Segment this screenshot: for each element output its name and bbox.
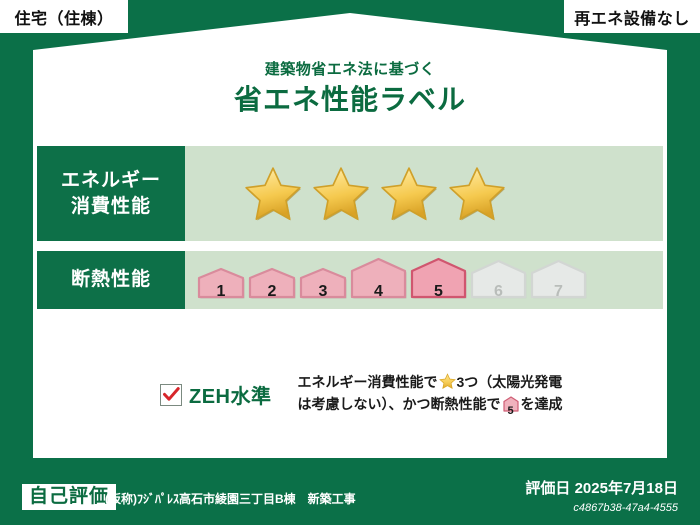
zeh-checkbox-group: ZEH水準 <box>160 372 272 409</box>
star-icon-filled <box>447 165 507 223</box>
star-icon-filled <box>243 165 303 223</box>
energy-performance-row-label: エネルギー 消費性能 <box>37 146 185 241</box>
page-subtitle: 建築物省エネ法に基づく <box>0 62 700 77</box>
insulation-level-badge-7: 7 <box>530 259 587 304</box>
zeh-description-line1: エネルギー消費性能で3つ（太陽光発電 <box>298 372 563 394</box>
house-badge-icon-active <box>350 257 407 299</box>
evaluation-date-value: 2025年7月18日 <box>575 480 678 497</box>
renewable-energy-tag-label: 再エネ設備なし <box>574 5 690 29</box>
zeh-checkbox <box>160 384 182 406</box>
insulation-level-inline-badge: 5 <box>503 396 519 419</box>
insulation-level-badge-1: 1 <box>197 267 245 304</box>
insulation-performance-row-label: 断熱性能 <box>37 251 185 309</box>
zeh-description-line2: は考慮しない）、かつ断熱性能で5を達成 <box>298 394 563 419</box>
insulation-performance-row-body: 1234567 <box>185 251 663 309</box>
insulation-level-badge-2: 2 <box>248 267 296 304</box>
house-badge-icon-inactive <box>470 259 527 299</box>
insulation-level-badge-6: 6 <box>470 259 527 304</box>
house-badge-icon-active <box>299 267 347 299</box>
energy-star-rating <box>185 165 507 223</box>
zeh-description-line2-text-b: を達成 <box>521 396 563 412</box>
energy-performance-label-line1: エネルギー <box>61 168 161 194</box>
house-badge-icon-active <box>410 257 467 299</box>
insulation-performance-label-line1: 断熱性能 <box>71 267 151 293</box>
insulation-performance-row: 断熱性能 1234567 <box>37 251 663 309</box>
zeh-standard-block: ZEH水準 エネルギー消費性能で3つ（太陽光発電 は考慮しない）、かつ断熱性能で… <box>160 372 563 418</box>
zeh-description-line2-text-a: は考慮しない）、かつ断熱性能で <box>298 396 501 412</box>
star-icon-filled <box>379 165 439 223</box>
zeh-description-line1-text-a: エネルギー消費性能で <box>298 374 438 390</box>
house-badge-body <box>250 269 294 297</box>
page-title: 省エネ性能ラベル <box>0 86 700 114</box>
insulation-level-scale: 1234567 <box>185 257 587 304</box>
insulation-level-inline-number: 5 <box>503 406 519 417</box>
star-icon-inline <box>439 373 456 390</box>
zeh-description: エネルギー消費性能で3つ（太陽光発電 は考慮しない）、かつ断熱性能で5を達成 <box>298 372 563 418</box>
energy-performance-row-body <box>185 146 663 241</box>
renewable-energy-tag: 再エネ設備なし <box>564 0 700 33</box>
house-badge-body <box>301 269 345 297</box>
zeh-standard-label: ZEH水準 <box>189 380 272 409</box>
energy-performance-row: エネルギー 消費性能 <box>37 146 663 241</box>
evaluation-date-label: 評価日 <box>525 480 570 497</box>
project-name: (仮称)ﾌｼﾞﾊﾟﾚｽ高石市綾園三丁目B棟 新築工事 <box>105 490 356 507</box>
evaluation-id: c4867b38-47a4-4555 <box>573 502 678 514</box>
star-icon-filled <box>311 165 371 223</box>
check-icon <box>163 387 180 402</box>
building-type-tag-label: 住宅（住棟） <box>14 5 113 29</box>
house-badge-icon-inactive <box>530 259 587 299</box>
building-type-tag: 住宅（住棟） <box>0 0 128 33</box>
evaluation-date: 評価日 2025年7月18日 <box>525 477 678 498</box>
house-badge-icon-active <box>248 267 296 299</box>
footer: 自己評価 (仮称)ﾌｼﾞﾊﾟﾚｽ高石市綾園三丁目B棟 新築工事 評価日 2025… <box>0 465 700 525</box>
house-badge-body <box>472 261 525 297</box>
house-badge-body <box>532 261 585 297</box>
energy-performance-label-line2: 消費性能 <box>71 194 151 220</box>
house-badge-body <box>352 259 405 297</box>
performance-rows: エネルギー 消費性能 断熱性能 1234567 <box>37 146 663 319</box>
insulation-level-badge-5: 5 <box>410 257 467 304</box>
energy-performance-label: 住宅（住棟） 再エネ設備なし 建築物省エネ法に基づく 省エネ性能ラベル エネルギ… <box>0 0 700 525</box>
zeh-description-line1-text-b: 3つ（太陽光発電 <box>457 374 563 390</box>
house-badge-body <box>199 269 243 297</box>
insulation-level-badge-4: 4 <box>350 257 407 304</box>
self-evaluation-badge: 自己評価 <box>22 484 116 510</box>
page-title-block: 建築物省エネ法に基づく 省エネ性能ラベル <box>0 62 700 114</box>
house-badge-body <box>412 259 465 297</box>
insulation-level-badge-3: 3 <box>299 267 347 304</box>
house-badge-icon-active <box>197 267 245 299</box>
